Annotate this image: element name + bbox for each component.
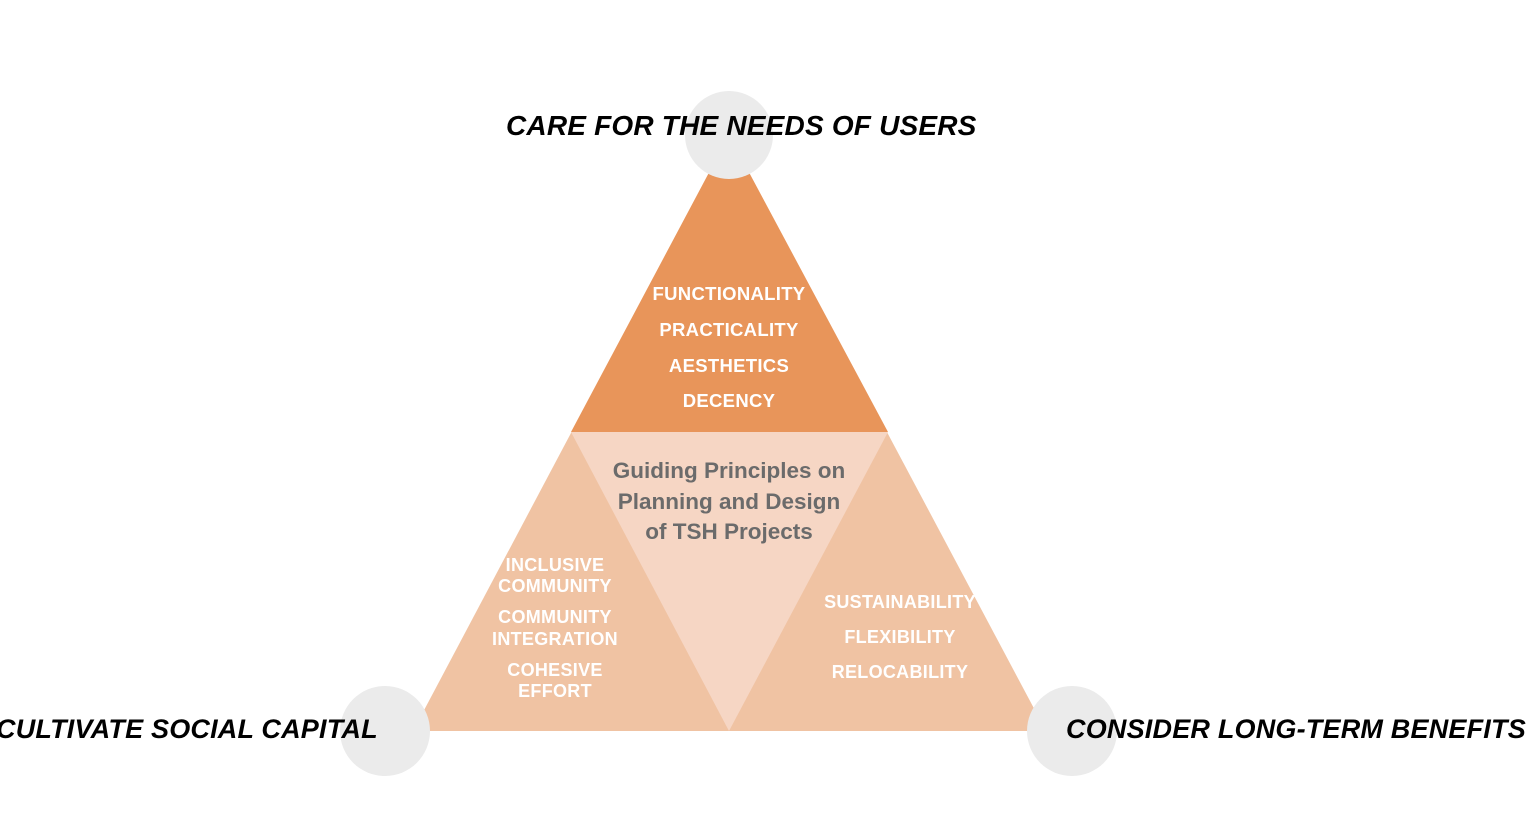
corner-label-right: CONSIDER LONG-TERM BENEFITS [1066, 716, 1526, 743]
section-item-aesthetics: AESTHETICS [629, 355, 829, 377]
section-items-right: SUSTAINABILITY FLEXIBILITY RELOCABILITY [800, 592, 1000, 684]
section-item-cohesive-effort: COHESIVE EFFORT [455, 660, 655, 702]
section-item-line: EFFORT [455, 681, 655, 702]
corner-label-left: CULTIVATE SOCIAL CAPITAL [0, 716, 378, 743]
section-item-line: INCLUSIVE [455, 555, 655, 576]
section-item-line: COMMUNITY [455, 576, 655, 597]
section-item-sustainability: SUSTAINABILITY [800, 592, 1000, 613]
center-title-line-3: of TSH Projects [598, 517, 860, 548]
corner-label-top: CARE FOR THE NEEDS OF USERS [506, 112, 977, 140]
center-title: Guiding Principles on Planning and Desig… [598, 456, 860, 548]
section-item-flexibility: FLEXIBILITY [800, 627, 1000, 648]
section-item-practicality: PRACTICALITY [629, 319, 829, 341]
section-items-left: INCLUSIVE COMMUNITY COMMUNITY INTEGRATIO… [455, 555, 655, 702]
center-title-line-2: Planning and Design [598, 487, 860, 518]
section-item-line: INTEGRATION [455, 629, 655, 650]
section-items-top: FUNCTIONALITY PRACTICALITY AESTHETICS DE… [629, 283, 829, 412]
section-item-relocability: RELOCABILITY [800, 662, 1000, 683]
diagram-canvas: CARE FOR THE NEEDS OF USERS CULTIVATE SO… [0, 0, 1532, 817]
section-item-community-integration: COMMUNITY INTEGRATION [455, 607, 655, 649]
center-title-line-1: Guiding Principles on [598, 456, 860, 487]
section-item-line: COMMUNITY [455, 607, 655, 628]
section-item-line: COHESIVE [455, 660, 655, 681]
section-item-functionality: FUNCTIONALITY [629, 283, 829, 305]
section-item-decency: DECENCY [629, 390, 829, 412]
section-item-inclusive-community: INCLUSIVE COMMUNITY [455, 555, 655, 597]
